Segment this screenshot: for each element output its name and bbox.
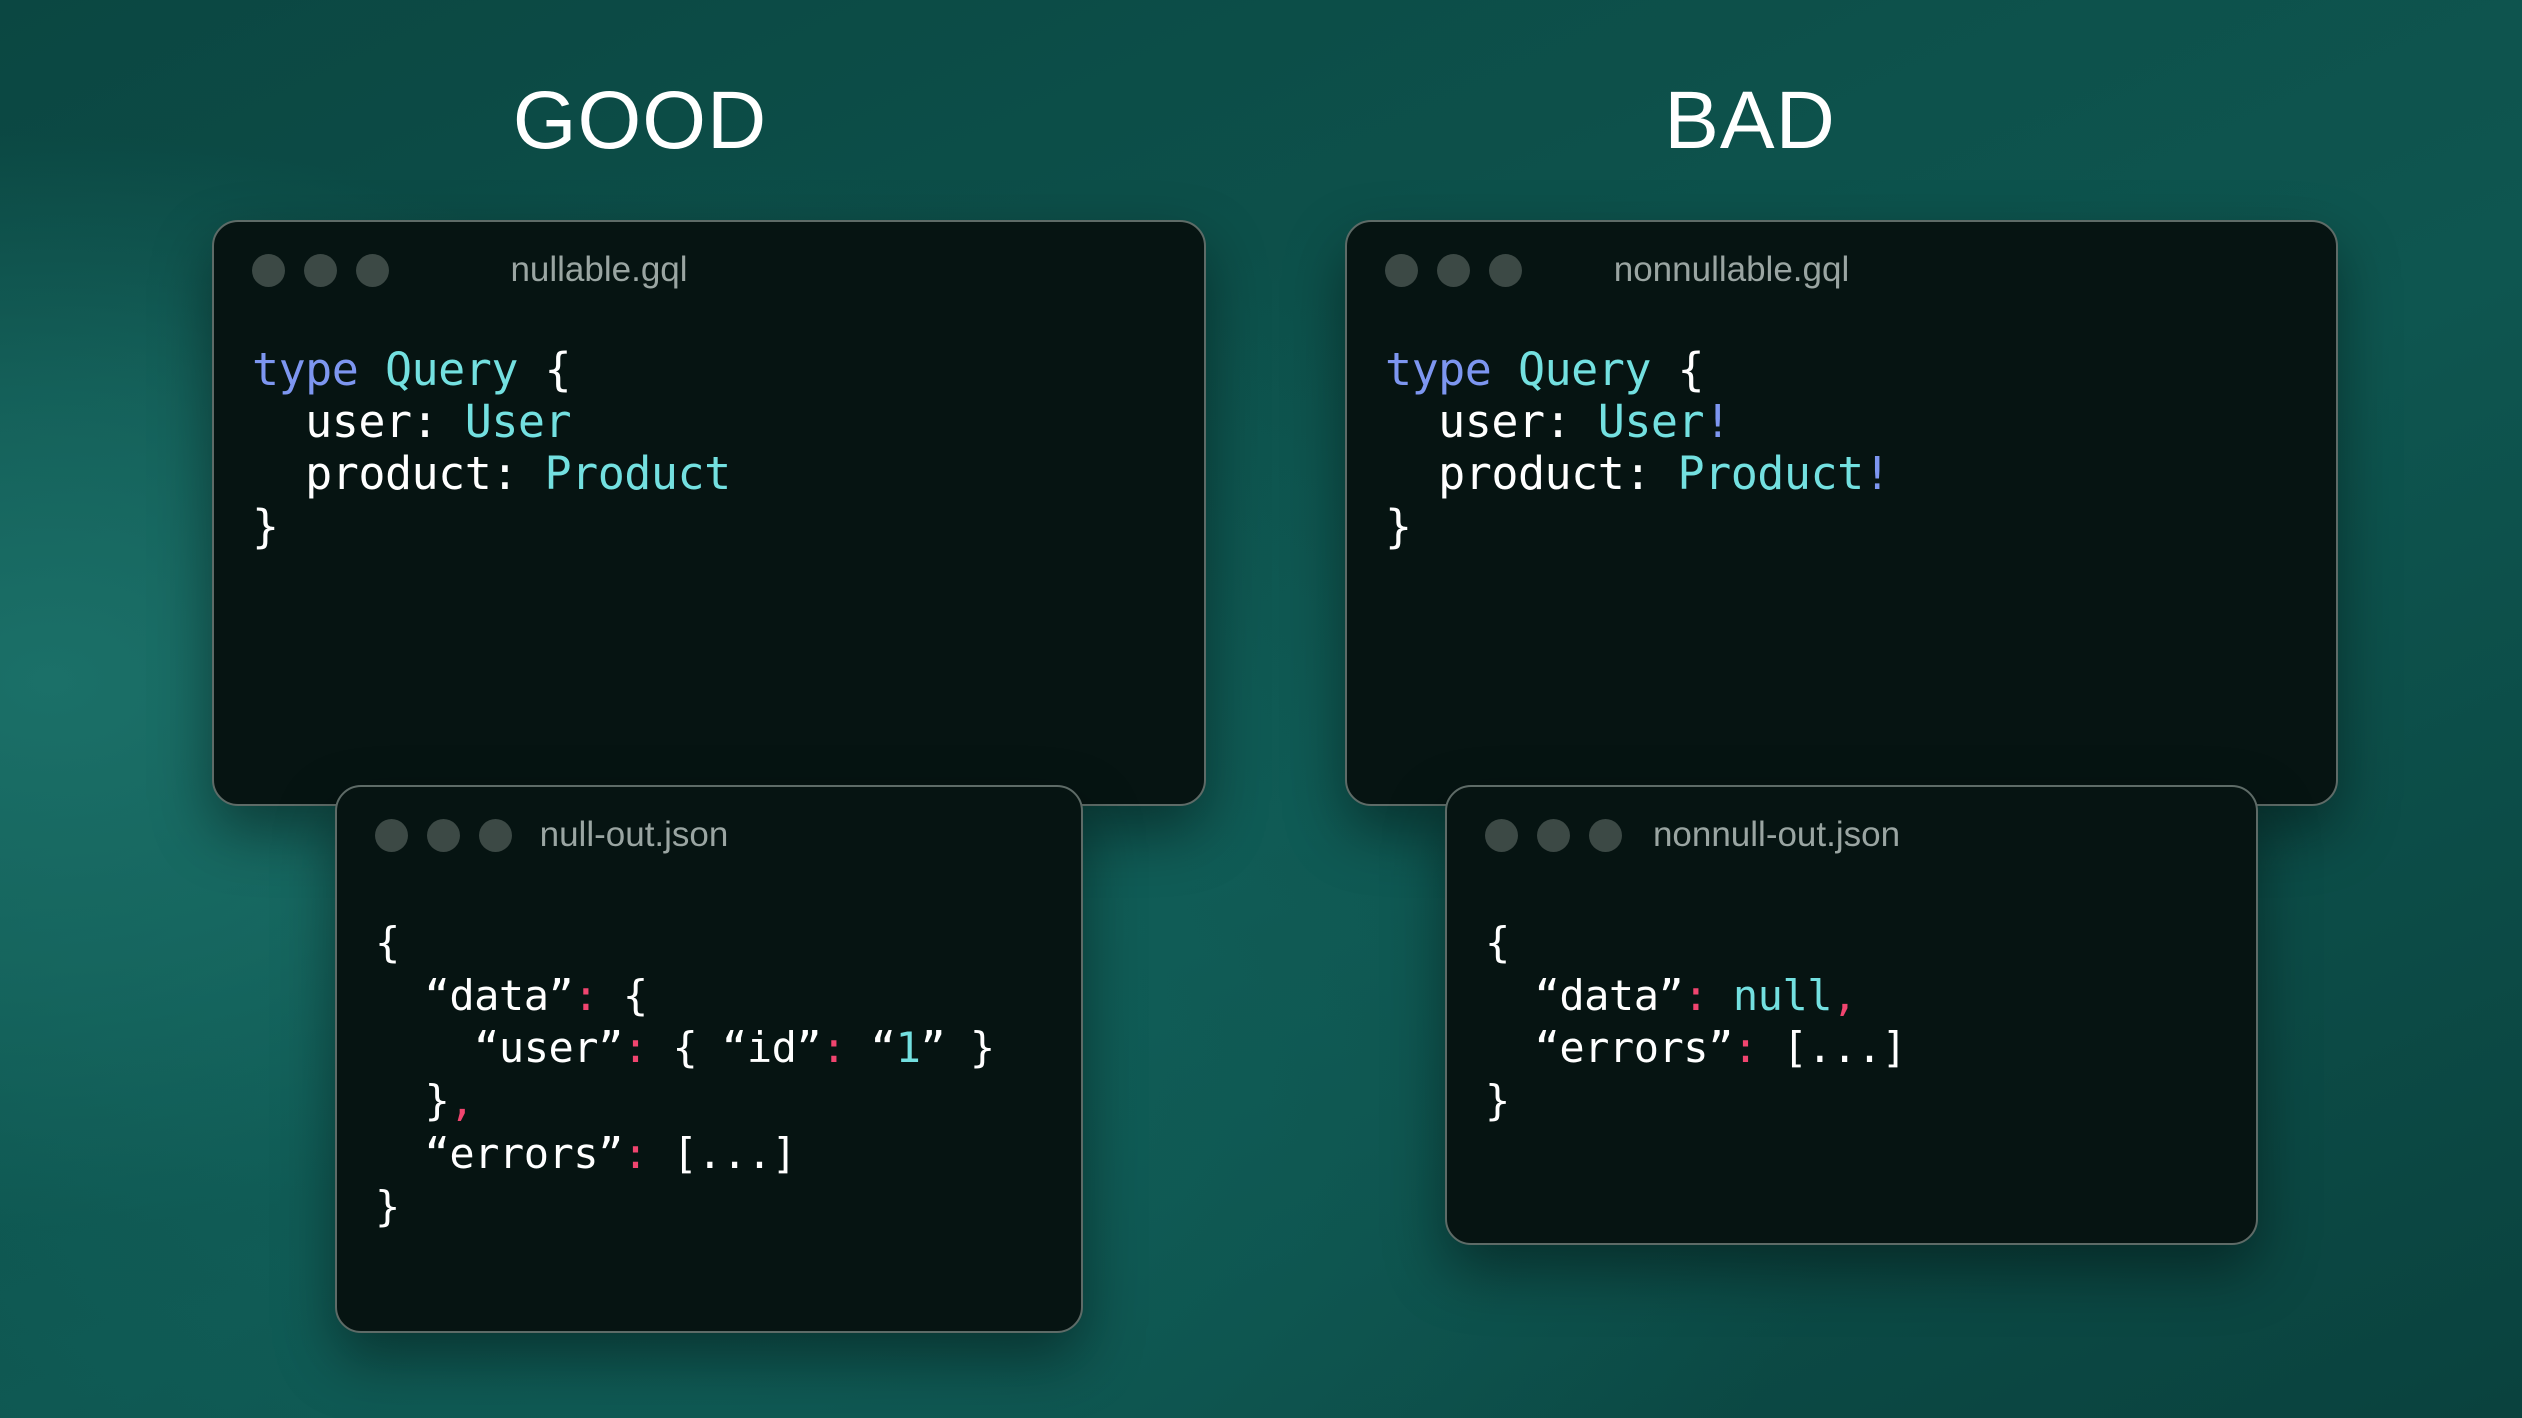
minimize-dot[interactable] bbox=[1437, 254, 1470, 287]
titlebar: nonnullable.gql bbox=[1347, 222, 2336, 318]
code-token: “errors” bbox=[1485, 1023, 1733, 1072]
minimize-dot[interactable] bbox=[427, 819, 460, 852]
code-token: Product bbox=[1678, 447, 1864, 500]
code-token: Product bbox=[545, 447, 731, 500]
close-dot[interactable] bbox=[1485, 819, 1518, 852]
code-token: [...] bbox=[1758, 1023, 1907, 1072]
code-line: } bbox=[1485, 1075, 2256, 1128]
code-token: “id” bbox=[722, 1023, 821, 1072]
code-token: : bbox=[1733, 1023, 1758, 1072]
code-token: } bbox=[1385, 500, 1412, 553]
code-line: “data”: null, bbox=[1485, 970, 2256, 1023]
code-token: user: bbox=[1385, 395, 1598, 448]
code-token bbox=[1491, 343, 1518, 396]
maximize-dot[interactable] bbox=[479, 819, 512, 852]
code-line: “data”: { bbox=[375, 970, 1081, 1023]
code-line: { bbox=[1485, 917, 2256, 970]
code-token: : bbox=[623, 1129, 648, 1178]
code-token: : bbox=[623, 1023, 648, 1072]
close-dot[interactable] bbox=[1385, 254, 1418, 287]
close-dot[interactable] bbox=[252, 254, 285, 287]
window-nonnull-out-json[interactable]: nonnull-out.json { “data”: null, “errors… bbox=[1445, 785, 2258, 1245]
code-token: “ bbox=[846, 1023, 896, 1072]
minimize-dot[interactable] bbox=[304, 254, 337, 287]
code-token: “user” bbox=[375, 1023, 623, 1072]
code-token: type bbox=[1385, 343, 1491, 396]
traffic-lights bbox=[1385, 254, 1522, 287]
code-token: , bbox=[1832, 971, 1857, 1020]
code-token: [...] bbox=[648, 1129, 797, 1178]
code-line: product: Product bbox=[252, 448, 1204, 500]
code-token: { bbox=[375, 918, 400, 967]
code-token: { bbox=[1651, 343, 1704, 396]
code-token bbox=[1708, 971, 1733, 1020]
code-line: product: Product! bbox=[1385, 448, 2336, 500]
code-line: type Query { bbox=[252, 344, 1204, 396]
maximize-dot[interactable] bbox=[356, 254, 389, 287]
code-line: “user”: { “id”: “1” } bbox=[375, 1022, 1081, 1075]
code-token: null bbox=[1733, 971, 1832, 1020]
code-token: , bbox=[449, 1076, 474, 1125]
maximize-dot[interactable] bbox=[1589, 819, 1622, 852]
code-line: type Query { bbox=[1385, 344, 2336, 396]
code-token bbox=[358, 343, 385, 396]
comparison-stage: GOOD BAD nullable.gql type Query { user:… bbox=[0, 0, 2522, 1418]
code-token: Query bbox=[385, 343, 518, 396]
column-heading-bad: BAD bbox=[1450, 80, 2050, 162]
code-token: } bbox=[252, 500, 279, 553]
code-token: 1 bbox=[896, 1023, 921, 1072]
code-token: User bbox=[465, 395, 571, 448]
code-token: ” } bbox=[920, 1023, 994, 1072]
titlebar: null-out.json bbox=[337, 787, 1081, 883]
code-token: } bbox=[1485, 1076, 1510, 1125]
code-token: user: bbox=[252, 395, 465, 448]
titlebar: nullable.gql bbox=[214, 222, 1204, 318]
code-line: }, bbox=[375, 1075, 1081, 1128]
column-heading-good: GOOD bbox=[340, 80, 940, 162]
code-token: { bbox=[1485, 918, 1510, 967]
code-token: : bbox=[1683, 971, 1708, 1020]
maximize-dot[interactable] bbox=[1489, 254, 1522, 287]
window-nonnullable-gql[interactable]: nonnullable.gql type Query { user: User!… bbox=[1345, 220, 2338, 806]
code-line: } bbox=[1385, 501, 2336, 553]
code-token: } bbox=[375, 1182, 400, 1231]
code-token: “data” bbox=[1485, 971, 1683, 1020]
code-token: “data” bbox=[375, 971, 573, 1020]
code-line: { bbox=[375, 917, 1081, 970]
code-token: { bbox=[518, 343, 571, 396]
code-token: ! bbox=[1864, 447, 1891, 500]
code-token: : bbox=[573, 971, 598, 1020]
code-line: } bbox=[375, 1181, 1081, 1234]
code-token: } bbox=[375, 1076, 449, 1125]
code-token: { bbox=[598, 971, 648, 1020]
code-line: } bbox=[252, 501, 1204, 553]
close-dot[interactable] bbox=[375, 819, 408, 852]
code-block: { “data”: null, “errors”: [...]} bbox=[1447, 883, 2256, 1128]
minimize-dot[interactable] bbox=[1537, 819, 1570, 852]
titlebar: nonnull-out.json bbox=[1447, 787, 2256, 883]
code-token: User bbox=[1598, 395, 1704, 448]
code-line: user: User bbox=[252, 396, 1204, 448]
code-token: “errors” bbox=[375, 1129, 623, 1178]
window-nullable-gql[interactable]: nullable.gql type Query { user: User pro… bbox=[212, 220, 1206, 806]
code-token: Query bbox=[1518, 343, 1651, 396]
code-token: ! bbox=[1704, 395, 1731, 448]
traffic-lights bbox=[375, 819, 512, 852]
code-token: product: bbox=[1385, 447, 1678, 500]
traffic-lights bbox=[252, 254, 389, 287]
code-token: product: bbox=[252, 447, 545, 500]
code-token: : bbox=[821, 1023, 846, 1072]
code-token: { bbox=[648, 1023, 722, 1072]
code-line: “errors”: [...] bbox=[1485, 1022, 2256, 1075]
code-token: type bbox=[252, 343, 358, 396]
code-block: type Query { user: User! product: Produc… bbox=[1347, 318, 2336, 553]
code-block: type Query { user: User product: Product… bbox=[214, 318, 1204, 553]
code-line: “errors”: [...] bbox=[375, 1128, 1081, 1181]
traffic-lights bbox=[1485, 819, 1622, 852]
window-null-out-json[interactable]: null-out.json { “data”: { “user”: { “id”… bbox=[335, 785, 1083, 1333]
code-block: { “data”: { “user”: { “id”: “1” } }, “er… bbox=[337, 883, 1081, 1233]
code-line: user: User! bbox=[1385, 396, 2336, 448]
